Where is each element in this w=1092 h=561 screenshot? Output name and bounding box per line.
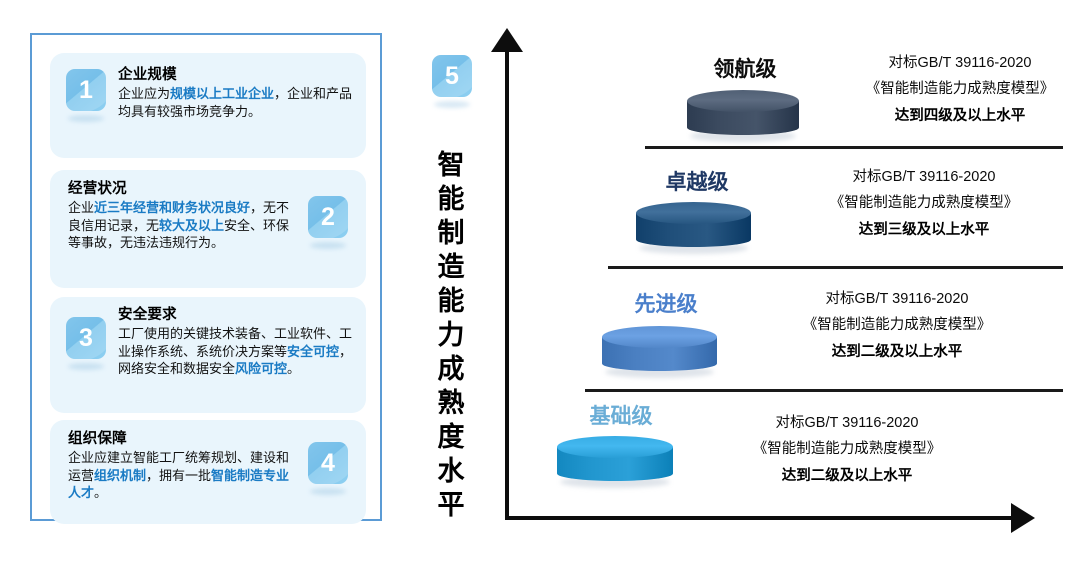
y-axis-line — [505, 48, 509, 520]
criteria-panel: 1 企业规模 企业应为规模以上工业企业，企业和产品均具有较强市场竞争力。 2 经… — [30, 33, 382, 521]
highlighted-text: 较大及以上 — [159, 218, 224, 233]
tier-desc-line-3: 达到四级及以上水平 — [826, 102, 1092, 130]
tier-name-label: 卓越级 — [632, 170, 762, 196]
criteria-text: 企业近三年经营和财务状况良好，无不良信用记录，无较大及以上安全、环保等事故，无违… — [68, 199, 300, 252]
cylinder-top — [687, 90, 799, 112]
cylinder-top — [557, 436, 673, 458]
badge-label: 4 — [308, 442, 348, 484]
plain-text: ，拥有一批 — [146, 468, 211, 483]
badge-number-1: 1 — [66, 69, 106, 111]
y-axis-label-char: 造 — [428, 250, 474, 284]
criteria-text: 企业应建立智能工厂统筹规划、建设和运营组织机制，拥有一批智能制造专业人才。 — [68, 449, 300, 502]
diagram-canvas: 1 企业规模 企业应为规模以上工业企业，企业和产品均具有较强市场竞争力。 2 经… — [0, 0, 1092, 561]
tier-separator-2 — [608, 266, 1063, 269]
tier-desc-line-2: 《智能制造能力成熟度模型》 — [826, 76, 1092, 102]
criteria-title: 企业规模 — [118, 66, 354, 84]
y-axis-label-char: 智 — [428, 148, 474, 182]
badge-shadow — [68, 115, 104, 122]
badge-number-3: 3 — [66, 317, 106, 359]
y-axis-arrow-icon — [491, 28, 523, 52]
y-axis-label-char: 能 — [428, 284, 474, 318]
criteria-title: 经营状况 — [68, 180, 300, 198]
plain-text: 企业应为 — [118, 86, 170, 101]
highlighted-text: 组织机制 — [94, 468, 146, 483]
highlighted-text: 近三年经营和财务状况良好 — [94, 200, 250, 215]
tier-description: 对标GB/T 39116-2020 《智能制造能力成熟度模型》 达到二级及以上水… — [713, 410, 981, 490]
tier-desc-line-2: 《智能制造能力成熟度模型》 — [790, 190, 1058, 216]
tier-desc-line-3: 达到三级及以上水平 — [790, 216, 1058, 244]
criteria-card-1[interactable]: 1 企业规模 企业应为规模以上工业企业，企业和产品均具有较强市场竞争力。 — [50, 53, 366, 158]
cylinder-top — [602, 326, 717, 348]
criteria-card-2[interactable]: 2 经营状况 企业近三年经营和财务状况良好，无不良信用记录，无较大及以上安全、环… — [50, 170, 366, 288]
x-axis-line — [505, 516, 1013, 520]
criteria-text: 工厂使用的关键技术装备、工业软件、工业操作系统、系统价决方案等安全可控，网络安全… — [118, 325, 356, 378]
tier-description: 对标GB/T 39116-2020 《智能制造能力成熟度模型》 达到二级及以上水… — [763, 286, 1031, 366]
badge-label: 2 — [308, 196, 348, 238]
plain-text: 企业 — [68, 200, 94, 215]
badge-shadow — [434, 101, 470, 108]
tier-desc-line-1: 对标GB/T 39116-2020 — [713, 410, 981, 436]
tier-description: 对标GB/T 39116-2020 《智能制造能力成熟度模型》 达到三级及以上水… — [790, 164, 1058, 244]
badge-label: 1 — [66, 69, 106, 111]
criteria-title: 组织保障 — [68, 430, 300, 448]
tier-desc-line-3: 达到二级及以上水平 — [713, 462, 981, 490]
criteria-card-4[interactable]: 4 组织保障 企业应建立智能工厂统筹规划、建设和运营组织机制，拥有一批智能制造专… — [50, 420, 366, 524]
tier-name-label: 领航级 — [680, 57, 810, 83]
plain-text: 。 — [94, 485, 107, 500]
criteria-text: 企业应为规模以上工业企业，企业和产品均具有较强市场竞争力。 — [118, 85, 354, 120]
badge-label: 5 — [432, 55, 472, 97]
cylinder-top — [636, 202, 751, 224]
tier-separator-3 — [585, 389, 1063, 392]
badge-number-4: 4 — [308, 442, 348, 484]
badge-label: 3 — [66, 317, 106, 359]
tier-desc-line-2: 《智能制造能力成熟度模型》 — [713, 436, 981, 462]
y-axis-label-char: 水 — [428, 454, 474, 488]
badge-shadow — [310, 242, 346, 249]
highlighted-text: 规模以上工业企业 — [170, 86, 274, 101]
badge-number-2: 2 — [308, 196, 348, 238]
y-axis-label-char: 能 — [428, 182, 474, 216]
y-axis-label-char: 成 — [428, 352, 474, 386]
criteria-card-body: 组织保障 企业应建立智能工厂统筹规划、建设和运营组织机制，拥有一批智能制造专业人… — [68, 430, 300, 502]
badge-shadow — [68, 363, 104, 370]
badge-number-5-wrap: 5 — [432, 55, 472, 97]
criteria-card-body: 企业规模 企业应为规模以上工业企业，企业和产品均具有较强市场竞争力。 — [118, 66, 354, 120]
criteria-card-3[interactable]: 3 安全要求 工厂使用的关键技术装备、工业软件、工业操作系统、系统价决方案等安全… — [50, 297, 366, 413]
tier-description: 对标GB/T 39116-2020 《智能制造能力成熟度模型》 达到四级及以上水… — [826, 50, 1092, 130]
x-axis-arrow-icon — [1011, 503, 1035, 533]
tier-name-label: 先进级 — [601, 292, 731, 318]
criteria-card-body: 经营状况 企业近三年经营和财务状况良好，无不良信用记录，无较大及以上安全、环保等… — [68, 180, 300, 252]
y-axis-label-char: 熟 — [428, 386, 474, 420]
y-axis-label-char: 度 — [428, 420, 474, 454]
badge-shadow — [310, 488, 346, 495]
y-axis-label-char: 力 — [428, 318, 474, 352]
criteria-card-body: 安全要求 工厂使用的关键技术装备、工业软件、工业操作系统、系统价决方案等安全可控… — [118, 306, 356, 378]
y-axis-label-char: 制 — [428, 216, 474, 250]
plain-text: 。 — [287, 361, 300, 376]
badge-number-5: 5 — [432, 55, 472, 97]
criteria-title: 安全要求 — [118, 306, 356, 324]
tier-desc-line-1: 对标GB/T 39116-2020 — [763, 286, 1031, 312]
highlighted-text: 风险可控 — [235, 361, 287, 376]
tier-desc-line-2: 《智能制造能力成熟度模型》 — [763, 312, 1031, 338]
tier-desc-line-3: 达到二级及以上水平 — [763, 338, 1031, 366]
highlighted-text: 安全可控 — [287, 344, 339, 359]
y-axis-label: 智能制造能力成熟度水平 — [428, 148, 474, 522]
tier-name-label: 基础级 — [556, 404, 686, 430]
tier-desc-line-1: 对标GB/T 39116-2020 — [790, 164, 1058, 190]
y-axis-label-char: 平 — [428, 488, 474, 522]
tier-desc-line-1: 对标GB/T 39116-2020 — [826, 50, 1092, 76]
tier-separator-1 — [645, 146, 1063, 149]
